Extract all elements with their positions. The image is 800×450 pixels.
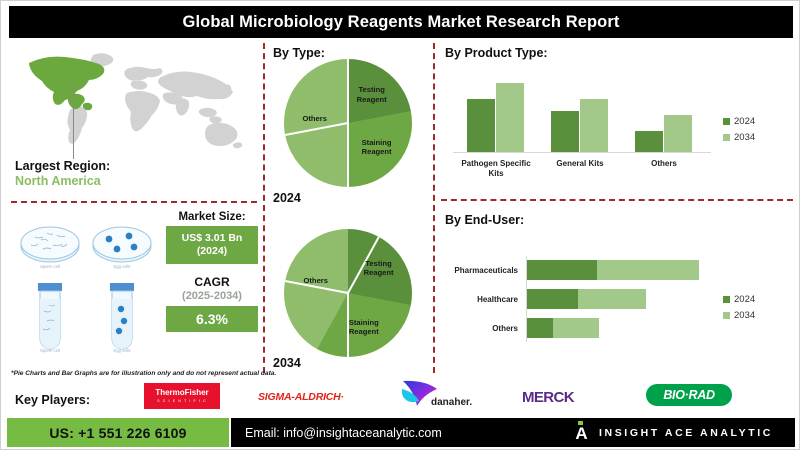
bar-category-label: Pathogen Specific Kits [455,159,537,180]
stacked-bar-row [527,318,599,338]
legend-label-2034: 2034 [734,310,755,321]
legend-label-2024: 2024 [734,116,755,127]
stacked-bar-category-label: Healthcare [418,295,518,304]
legend-item-2034: 2034 [723,132,755,143]
bar-2024 [467,99,495,152]
cagr-label: CAGR [166,275,258,289]
thermo-fisher-logo: ThermoFisher S C I E N T I F I C [144,383,220,409]
bar-segment-2034 [578,289,646,309]
report-title-bar: Global Microbiology Reagents Market Rese… [9,6,793,38]
legend-end-user: 2024 2034 [723,294,755,326]
legend-label-2034: 2034 [734,132,755,143]
divider-vertical-left [263,43,265,373]
infographic-root: Global Microbiology Reagents Market Rese… [0,0,800,450]
thermo-fisher-logo-line1: ThermoFisher [155,389,208,397]
brand-logo: A INSIGHT ACE ANALYTIC [573,423,773,443]
svg-text:Egg cells: Egg cells [114,348,131,353]
phone-cta-bar[interactable]: US: +1 551 226 6109 [7,418,229,447]
insight-ace-mark-icon: A [573,423,590,443]
legend-swatch-2024-icon [723,296,730,303]
bar-2034 [580,99,608,152]
bar-segment-2034 [553,318,599,338]
legend-swatch-2024-icon [723,118,730,125]
disclaimer-text: *Pie Charts and Bar Graphs are for illus… [11,370,276,377]
vbar-baseline [453,152,711,153]
pie-2034-year: 2034 [273,356,301,370]
pie-2034-label-staining: Staining Reagent [335,318,393,337]
email-address[interactable]: Email: info@insightaceanalytic.com [245,426,442,440]
brand-initial: A [575,425,587,442]
market-size-label: Market Size: [166,211,258,223]
bar-category-label: General Kits [539,159,621,169]
bio-rad-logo-text: BIO·RAD [663,388,714,402]
bar-chart-by-end-user: PharmaceuticalsHealthcareOthers [526,256,726,342]
bar-segment-2024 [527,260,597,280]
danaher-logo-text: danaher. [431,397,472,408]
lab-illustration-group: Sperm cell Egg cells [13,219,161,361]
legend-swatch-2034-icon [723,134,730,141]
bar-segment-2024 [527,318,553,338]
sigma-aldrich-logo: SIGMA-ALDRICH· [258,391,344,403]
by-type-heading: By Type: [273,46,325,60]
largest-region-label: Largest Region: [15,159,110,173]
pie-2024-label-testing: Testing Reagent [343,85,401,104]
map-leader-line [73,83,74,159]
pie-2034-label-others: Others [287,276,345,285]
cagr-years: (2025-2034) [166,290,258,302]
bar-group [635,115,692,152]
divider-horizontal-right [441,199,793,201]
pie-slice-separator [285,122,348,136]
brand-dot-icon [578,421,583,425]
svg-text:Egg cells: Egg cells [114,264,131,269]
thermo-fisher-logo-line2: S C I E N T I F I C [157,399,207,403]
bar-chart-by-product-type: Pathogen Specific KitsGeneral KitsOthers [453,67,711,153]
bar-segment-2034 [597,260,699,280]
pie-chart-by-type-2034 [284,229,412,357]
phone-number: US: +1 551 226 6109 [49,425,186,441]
divider-horizontal-left [11,201,257,203]
stacked-bar-category-label: Others [418,324,518,333]
bar-group [467,83,524,152]
legend-label-2024: 2024 [734,294,755,305]
key-players-label: Key Players: [15,393,90,407]
danaher-logo: danaher. [401,379,493,409]
bar-2034 [664,115,692,152]
legend-item-2024: 2024 [723,294,755,305]
brand-name: INSIGHT ACE ANALYTIC [599,427,773,439]
bar-2024 [635,131,663,153]
pie-2024-label-staining: Staining Reagent [348,138,406,157]
legend-product-type: 2024 2034 [723,116,755,148]
petri-dish-sperm-icon: Sperm cell [21,227,79,269]
legend-item-2024: 2024 [723,116,755,127]
petri-dish-egg-icon: Egg cells [93,227,151,269]
pie-2024-year: 2024 [273,191,301,205]
by-end-user-heading: By End-User: [445,213,524,227]
bar-group [551,99,608,152]
stacked-bar-row [527,260,699,280]
bar-category-label: Others [623,159,705,169]
svg-text:Sperm cell: Sperm cell [40,348,60,353]
largest-region-value: North America [15,174,110,188]
svg-text:Sperm cell: Sperm cell [40,264,60,269]
bar-2024 [551,111,579,152]
legend-swatch-2034-icon [723,312,730,319]
largest-region-block: Largest Region: North America [15,159,110,188]
cagr-value: 6.3% [166,306,258,332]
stacked-bar-row [527,289,646,309]
stacked-bar-category-label: Pharmaceuticals [418,266,518,275]
world-map-icon [15,47,253,157]
market-stats-block: Market Size: US$ 3.01 Bn (2024) CAGR (20… [166,211,258,332]
merck-logo: MERCK [522,389,574,406]
page-title: Global Microbiology Reagents Market Rese… [183,13,620,32]
legend-item-2034: 2034 [723,310,755,321]
market-size-value: US$ 3.01 Bn (2024) [166,226,258,264]
by-product-type-heading: By Product Type: [445,46,548,60]
bar-2034 [496,83,524,152]
bio-rad-logo: BIO·RAD [646,384,732,406]
bar-segment-2024 [527,289,578,309]
pie-2034-label-testing: Testing Reagent [350,259,408,278]
pie-2024-label-others: Others [286,114,344,123]
test-tube-sperm-icon: Sperm cell [38,283,62,353]
test-tube-egg-icon: Egg cells [110,283,134,353]
